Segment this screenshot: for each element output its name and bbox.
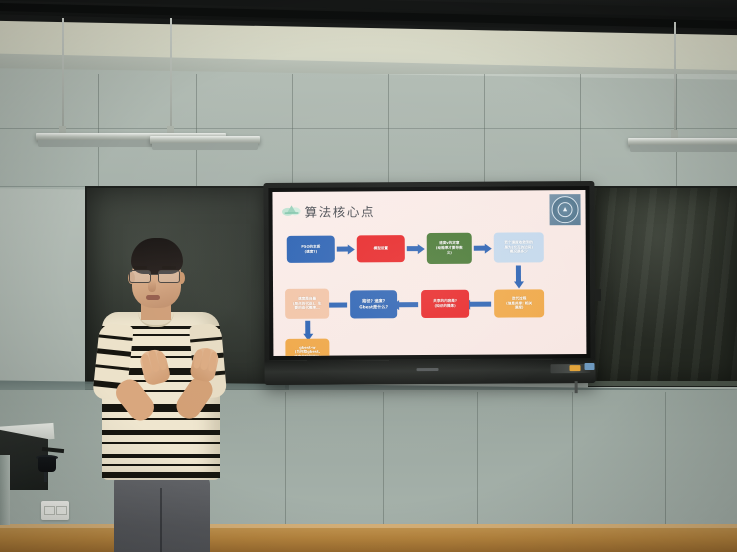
outlet-socket <box>56 506 67 515</box>
wainscot-seam <box>665 392 666 524</box>
flow-box-pso-essence: PSO的本质(速度?) <box>287 236 335 263</box>
wall-power-outlet[interactable] <box>41 501 69 520</box>
wainscot-seam <box>572 392 573 524</box>
flow-arrow-right <box>407 246 419 251</box>
flow-box-convergence-estimate: 若个速度收敛到的是为(交互的边间)概况是多少 <box>494 232 544 262</box>
display-side-tab <box>595 289 601 301</box>
trouser-seam <box>160 488 162 552</box>
flow-box-shared-content: 共享的内容是?(知识的提炼) <box>421 290 469 318</box>
lecture-hall-photo: 算法核心点 ▲ PSO的本质(速度?) 模型设置 速度v的定意(动能果才要导数义… <box>0 0 737 552</box>
flow-box-velocity-update: 速度是自最(局点的代迭)、生要的迭代概率… <box>285 289 329 319</box>
chalk-tray <box>588 381 737 386</box>
wainscot-seam <box>383 392 384 524</box>
cup-holder-stem <box>44 472 47 482</box>
presentation-slide: 算法核心点 ▲ PSO的本质(速度?) 模型设置 速度v的定意(动能果才要导数义… <box>272 190 586 356</box>
wall-panel-seam <box>580 74 581 186</box>
display-mount-leg <box>575 381 578 393</box>
suspended-linear-light <box>150 18 260 138</box>
flow-arrow-left <box>398 302 418 307</box>
display-bottom-bezel <box>264 359 595 385</box>
presenter-trousers <box>114 474 210 552</box>
flow-box-iteration-process: 迭代过程(信息共享: 相关速度) <box>494 289 544 317</box>
display-brand-mark <box>417 368 439 371</box>
cloud-icon <box>282 204 302 217</box>
display-side-port <box>584 363 594 370</box>
door-edge <box>0 455 10 525</box>
wall-panel-seam <box>484 74 485 184</box>
flow-arrow-right <box>474 246 486 251</box>
wainscot-seam <box>285 392 286 524</box>
eyeglasses <box>128 270 186 281</box>
flow-box-path-speed-gbest: 路径? 速度?Gbest是什么? <box>350 290 397 318</box>
cup-holder <box>38 457 56 472</box>
power-led-icon <box>570 365 581 371</box>
suspended-linear-light <box>628 22 737 144</box>
presenter-hair <box>131 238 183 274</box>
presenter-mouth <box>146 295 160 300</box>
presenter <box>86 238 246 552</box>
flow-arrow-down <box>305 321 310 335</box>
outlet-socket <box>44 506 55 515</box>
flow-box-gbest-weight: gbest-w(为何取gbest,信息的种积理论:gbest一定重要吗) <box>285 339 329 356</box>
presenter-eyebrow <box>133 266 147 269</box>
flow-arrow-right <box>337 246 349 251</box>
university-seal-logo: ▲ <box>549 194 580 225</box>
wall-panel-seam <box>292 74 293 186</box>
flow-arrow-left <box>469 302 491 307</box>
presenter-eyebrow <box>162 266 176 269</box>
presenter-nose <box>148 280 156 292</box>
flow-box-model-setup: 模型设置 <box>357 235 405 262</box>
flow-box-velocity-definition: 速度v的定意(动能果才要导数义) <box>427 233 472 264</box>
wall-panel-seam <box>388 74 389 184</box>
flow-arrow-down <box>516 265 521 282</box>
chalkboard-right <box>588 186 737 387</box>
slide-title: 算法核心点 <box>305 201 376 220</box>
seal-glyph: ▲ <box>558 202 573 217</box>
interactive-flat-panel-display[interactable]: 算法核心点 ▲ PSO的本质(速度?) 模型设置 速度v的定意(动能果才要导数义… <box>263 181 595 385</box>
flow-arrow-left <box>327 303 347 308</box>
wainscot-seam <box>477 392 478 524</box>
